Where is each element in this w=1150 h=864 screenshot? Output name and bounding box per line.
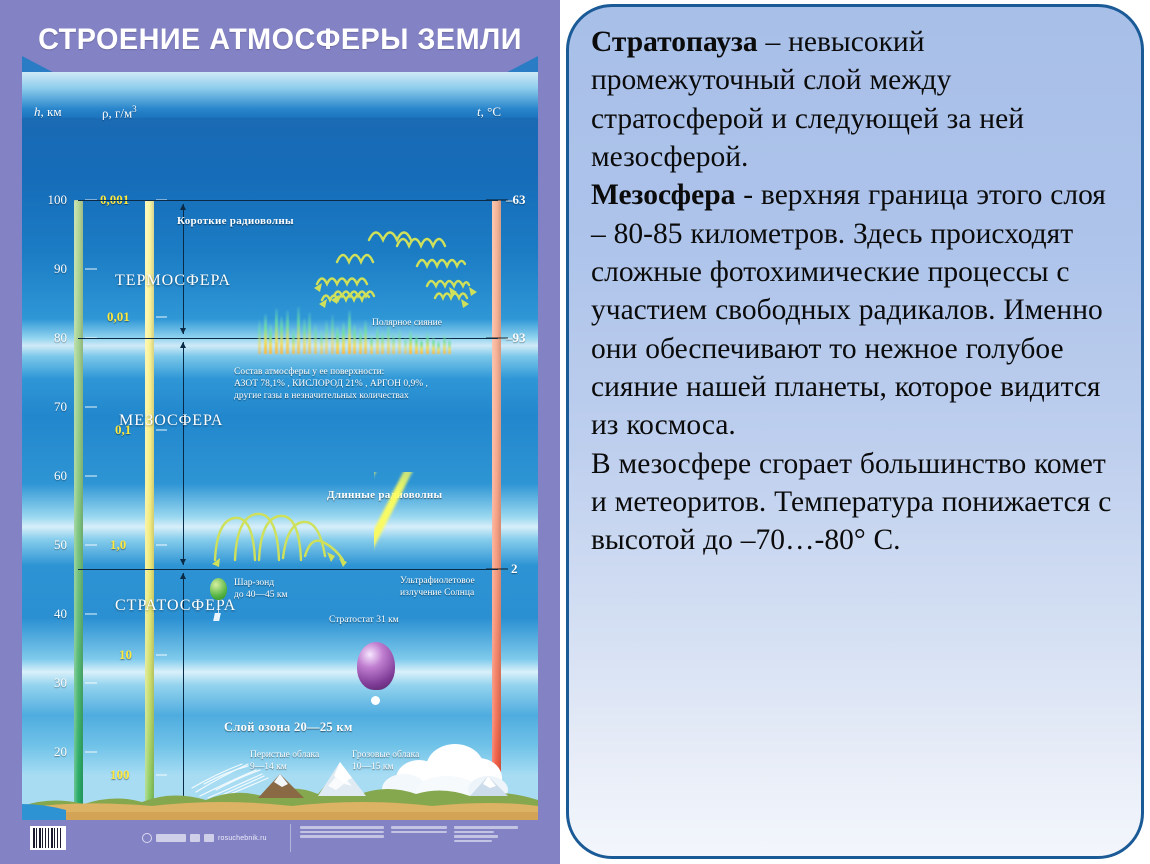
description-panel: Стратопауза – невысокий промежуточный сл… — [566, 4, 1144, 859]
publisher-logos: rosuchebnik.ru — [142, 833, 267, 843]
globe-icon — [142, 833, 152, 843]
aurora-streak — [443, 334, 446, 354]
height-gradient-bar — [74, 200, 83, 820]
stratostat-label: Стратостат 31 км — [329, 615, 399, 627]
height-tick-30: 30 — [34, 675, 67, 691]
aurora-streak — [353, 324, 356, 354]
description-text: Стратопауза – невысокий промежуточный сл… — [591, 23, 1119, 560]
atmosphere-poster: СТРОЕНИЕ АТМОСФЕРЫ ЗЕМЛИ h, км ρ, г/м3 t… — [0, 0, 560, 864]
height-axis-header: h, км — [34, 104, 62, 120]
aurora-streak — [415, 334, 418, 354]
description-paragraph: Стратопауза – невысокий промежуточный сл… — [591, 23, 1119, 176]
sonde-label: Шар-зонд до 40—45 км — [234, 578, 287, 602]
height-tick-80: 80 — [34, 330, 67, 346]
aurora-streak — [376, 326, 379, 354]
height-tick-100: 100 — [34, 192, 67, 208]
slide-root: СТРОЕНИЕ АТМОСФЕРЫ ЗЕМЛИ h, км ρ, г/м3 t… — [0, 0, 1150, 864]
publisher-wordmark — [156, 834, 186, 842]
aurora-streak — [370, 334, 373, 354]
aurora-streak — [331, 314, 334, 354]
density-tickmark-10g — [156, 655, 167, 656]
aurora-streak — [308, 312, 311, 354]
sonde-instrument-icon — [213, 613, 221, 621]
height-tick-20: 20 — [34, 744, 67, 760]
upper-haze-band — [22, 72, 538, 118]
composition-note: Состав атмосферы у ее поверхности: АЗОТ … — [234, 367, 428, 403]
uv-label: Ультрафиолетовое излучение Солнца — [400, 576, 475, 600]
temperature-gradient-bar — [492, 200, 501, 820]
award-icon — [190, 834, 200, 842]
sonde-balloon-icon — [210, 578, 227, 600]
aurora-streak — [314, 324, 317, 354]
sonde-balloon-string — [218, 600, 219, 614]
description-paragraph: В мезосфере сгорает большинство комет и … — [591, 445, 1119, 560]
footer-divider — [290, 824, 291, 852]
long-radiowaves-graphic — [207, 470, 357, 565]
aurora-streak — [409, 330, 412, 354]
aurora-streak — [437, 340, 440, 354]
badge-icon — [204, 834, 214, 842]
aurora-streak — [269, 324, 272, 354]
height-tick-90: 90 — [34, 261, 67, 277]
description-paragraph: Мезосфера - верхняя граница этого слоя –… — [591, 176, 1119, 444]
density-tick-10: 1,0 — [110, 537, 126, 553]
layer-label-thermosphere: ТЕРМОСФЕРА — [115, 272, 231, 290]
aurora-streak — [404, 336, 407, 354]
temperature-axis-header: t, °C — [477, 104, 501, 120]
layer-label-mesosphere: МЕЗОСФЕРА — [119, 412, 223, 430]
aurora-streak — [264, 314, 267, 354]
aurora-streak — [392, 332, 395, 354]
aurora-streak — [342, 322, 345, 354]
height-tickmark-20 — [85, 752, 97, 753]
description-term: Мезосфера — [591, 179, 735, 211]
publisher-site-label[interactable]: rosuchebnik.ru — [218, 835, 267, 842]
aurora-streak — [348, 310, 351, 354]
density-tickmark-10 — [156, 545, 167, 546]
density-gradient-bar — [145, 200, 154, 820]
height-tick-60: 60 — [34, 468, 67, 484]
height-tickmark-90 — [85, 269, 97, 270]
aurora-streak — [364, 320, 367, 354]
height-tickmark-40 — [85, 614, 97, 615]
description-term: Стратопауза — [591, 26, 758, 58]
aurora-streak — [325, 320, 328, 354]
aurora-streak — [258, 320, 261, 354]
boundary-46km — [78, 569, 498, 570]
aurora-streak — [292, 328, 295, 354]
aurora-streak — [320, 330, 323, 354]
temp-tick-minus93: –93 — [506, 330, 526, 346]
footer-credits — [300, 826, 530, 842]
aurora-streak — [303, 318, 306, 354]
temp-tick-minus63: –63 — [506, 192, 526, 208]
aurora-streak — [381, 330, 384, 354]
aurora-streak — [432, 336, 435, 354]
barcode — [30, 826, 66, 850]
aurora-label: Полярное сияние — [372, 318, 442, 330]
span-mesosphere — [183, 342, 184, 565]
stratostat-balloon-icon — [357, 642, 395, 690]
aurora-streak — [448, 338, 451, 354]
density-tick-001: 0,01 — [107, 309, 130, 325]
ozone-layer-label: Слой озона 20—25 км — [224, 720, 353, 736]
height-tickmark-30 — [85, 683, 97, 684]
poster-title-band: СТРОЕНИЕ АТМОСФЕРЫ ЗЕМЛИ — [22, 8, 538, 72]
density-tickmark-001 — [156, 317, 167, 318]
stratostat-gondola-icon — [371, 696, 380, 705]
aurora-streak — [280, 316, 283, 354]
short-radiowaves-graphic — [277, 200, 487, 310]
aurora-streak — [359, 328, 362, 354]
height-tick-50: 50 — [34, 537, 67, 553]
aurora-streak — [297, 306, 300, 354]
height-tickmark-60 — [85, 476, 97, 477]
page-title: СТРОЕНИЕ АТМОСФЕРЫ ЗЕМЛИ — [38, 23, 522, 57]
aurora-streak — [420, 338, 423, 354]
height-tick-40: 40 — [34, 606, 67, 622]
atmosphere-diagram: h, км ρ, г/м3 t, °C 100 90 80 70 60 50 — [22, 72, 538, 820]
temp-tick-2: 2 — [511, 561, 518, 577]
aurora-streak — [286, 310, 289, 354]
poster-footer: rosuchebnik.ru — [22, 820, 538, 856]
density-axis-header: ρ, г/м3 — [102, 104, 137, 121]
height-tickmark-50 — [85, 545, 97, 546]
ground-graphic — [22, 760, 538, 820]
aurora-streak — [336, 326, 339, 354]
aurora-streak — [398, 328, 401, 354]
height-tickmark-70 — [85, 407, 97, 408]
aurora-streak — [275, 308, 278, 354]
aurora-streak — [426, 332, 429, 354]
height-tick-70: 70 — [34, 399, 67, 415]
density-tick-10-g: 10 — [119, 647, 132, 663]
